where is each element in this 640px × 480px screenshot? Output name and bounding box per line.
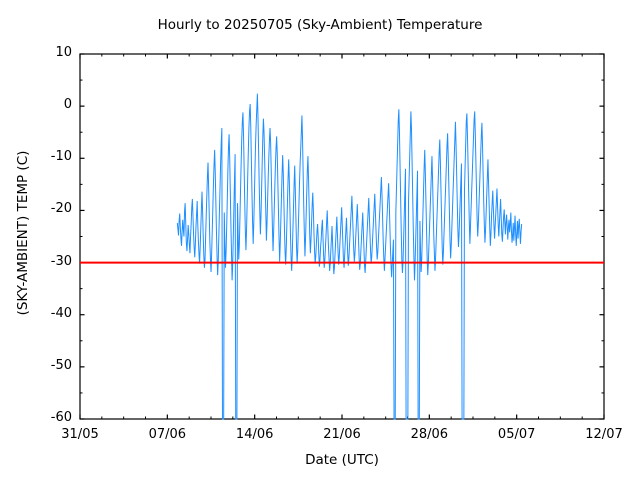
y-tick-label: -50 — [14, 358, 72, 373]
y-tick-label: -10 — [14, 149, 72, 164]
y-tick-label: -20 — [14, 201, 72, 216]
x-tick-label: 28/06 — [384, 427, 474, 442]
axes-frame — [80, 54, 604, 419]
data-series-group — [177, 94, 521, 419]
y-tick-label: -60 — [14, 410, 72, 425]
data-line — [177, 94, 521, 419]
x-tick-label: 21/06 — [297, 427, 387, 442]
y-tick-label: 0 — [14, 97, 72, 112]
y-tick-label: -40 — [14, 306, 72, 321]
y-tick-label: -30 — [14, 254, 72, 269]
x-tick-label: 31/05 — [35, 427, 125, 442]
x-tick-label: 14/06 — [210, 427, 300, 442]
y-tick-label: 10 — [14, 45, 72, 60]
x-tick-label: 05/07 — [472, 427, 562, 442]
axis-ticks — [80, 54, 604, 419]
chart-figure: Hourly to 20250705 (Sky-Ambient) Tempera… — [0, 0, 640, 480]
plot-canvas — [0, 0, 640, 480]
x-tick-label: 12/07 — [559, 427, 640, 442]
x-tick-label: 07/06 — [122, 427, 212, 442]
